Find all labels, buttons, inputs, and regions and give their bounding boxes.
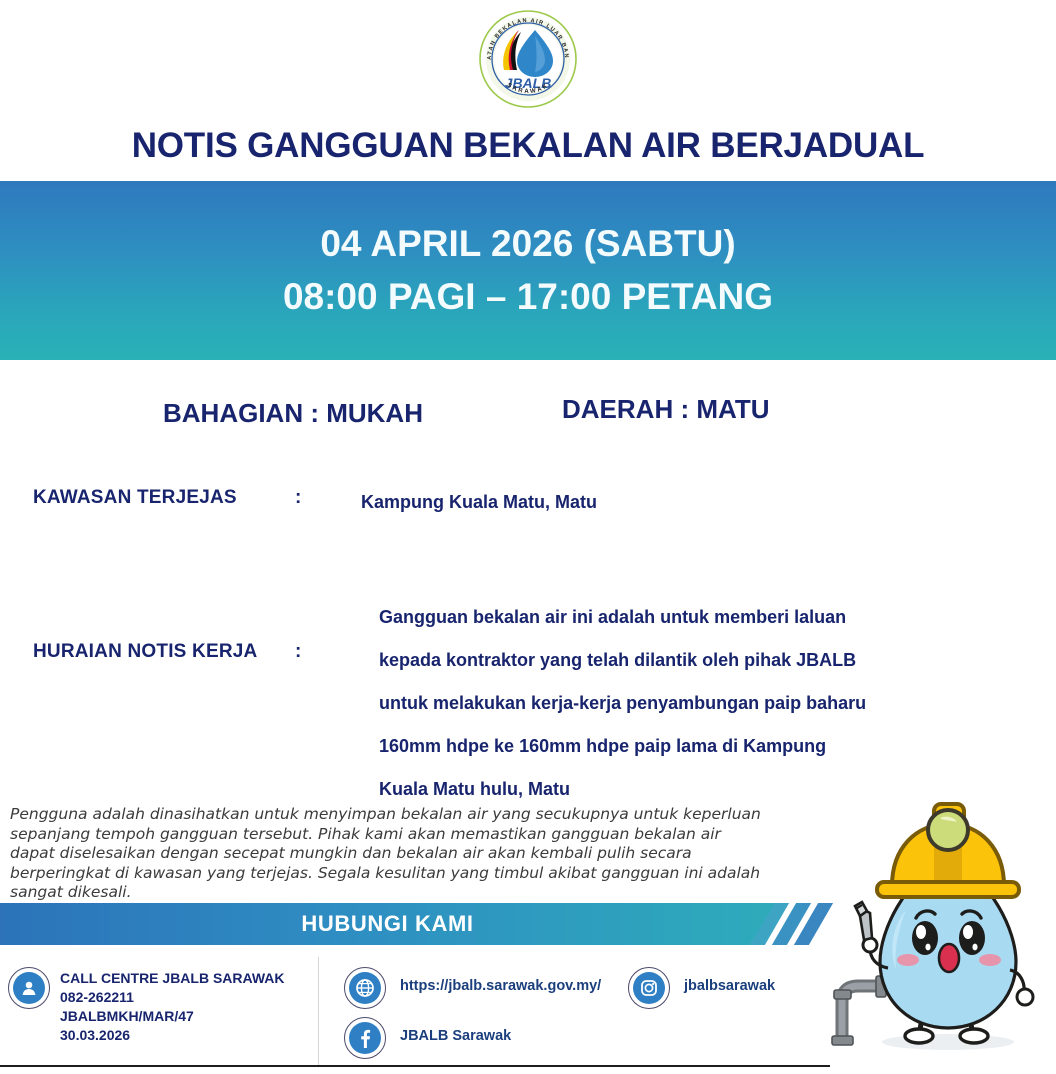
website-url[interactable]: https://jbalb.sarawak.gov.my/	[400, 978, 601, 994]
bahagian-label: BAHAGIAN : MUKAH	[163, 398, 423, 429]
notice-time: 08:00 PAGI – 17:00 PETANG	[283, 271, 773, 324]
jbalb-logo: JBALB JABATAN BEKALAN AIR LUAR BANDAR SA…	[477, 8, 579, 110]
division-row: BAHAGIAN : MUKAH DAERAH : MATU	[0, 398, 1056, 438]
disclaimer-text: Pengguna adalah dinasihatkan untuk menyi…	[10, 805, 770, 903]
water-droplet-mascot	[820, 790, 1056, 1069]
logo-container: JBALB JABATAN BEKALAN AIR LUAR BANDAR SA…	[0, 8, 1056, 116]
globe-icon	[344, 967, 386, 1009]
call-centre-phone: 082-262211	[60, 988, 285, 1007]
huraian-line: untuk melakukan kerja-kerja penyambungan…	[379, 682, 979, 725]
huraian-line: Gangguan bekalan air ini adalah untuk me…	[379, 596, 979, 639]
date-banner: 04 APRIL 2026 (SABTU) 08:00 PAGI – 17:00…	[0, 181, 1056, 360]
instagram-icon	[628, 967, 670, 1009]
footer-contacts: CALL CENTRE JBALB SARAWAK 082-262211 JBA…	[0, 955, 830, 1069]
call-centre-details: CALL CENTRE JBALB SARAWAK 082-262211 JBA…	[60, 969, 285, 1045]
call-centre-name: CALL CENTRE JBALB SARAWAK	[60, 969, 285, 988]
huraian-notis-kerja-value: Gangguan bekalan air ini adalah untuk me…	[379, 596, 979, 811]
notice-issue-date: 30.03.2026	[60, 1026, 285, 1045]
footer-bottom-divider	[0, 1065, 830, 1067]
footer-vertical-divider	[318, 957, 319, 1065]
contact-banner: HUBUNGI KAMI	[0, 903, 830, 945]
kawasan-terjejas-label: KAWASAN TERJEJAS	[33, 487, 237, 509]
hard-hat-icon	[877, 804, 1019, 897]
huraian-notis-kerja-label: HURAIAN NOTIS KERJA	[33, 641, 257, 663]
huraian-line: 160mm hdpe ke 160mm hdpe paip lama di Ka…	[379, 725, 979, 768]
page-title: NOTIS GANGGUAN BEKALAN AIR BERJADUAL	[0, 126, 1056, 166]
reference-number: JBALBMKH/MAR/47	[60, 1007, 285, 1026]
huraian-notis-kerja-colon: :	[295, 641, 301, 663]
daerah-label: DAERAH : MATU	[562, 394, 770, 425]
facebook-icon	[344, 1017, 386, 1059]
facebook-handle[interactable]: JBALB Sarawak	[400, 1028, 511, 1044]
person-icon	[8, 967, 50, 1009]
contact-banner-title: HUBUNGI KAMI	[0, 903, 775, 945]
huraian-line: kepada kontraktor yang telah dilantik ol…	[379, 639, 979, 682]
wrench-icon	[855, 902, 872, 940]
instagram-handle[interactable]: jbalbsarawak	[684, 978, 775, 994]
kawasan-terjejas-value: Kampung Kuala Matu, Matu	[361, 492, 597, 513]
notice-date: 04 APRIL 2026 (SABTU)	[320, 218, 735, 271]
kawasan-terjejas-colon: :	[295, 487, 301, 509]
